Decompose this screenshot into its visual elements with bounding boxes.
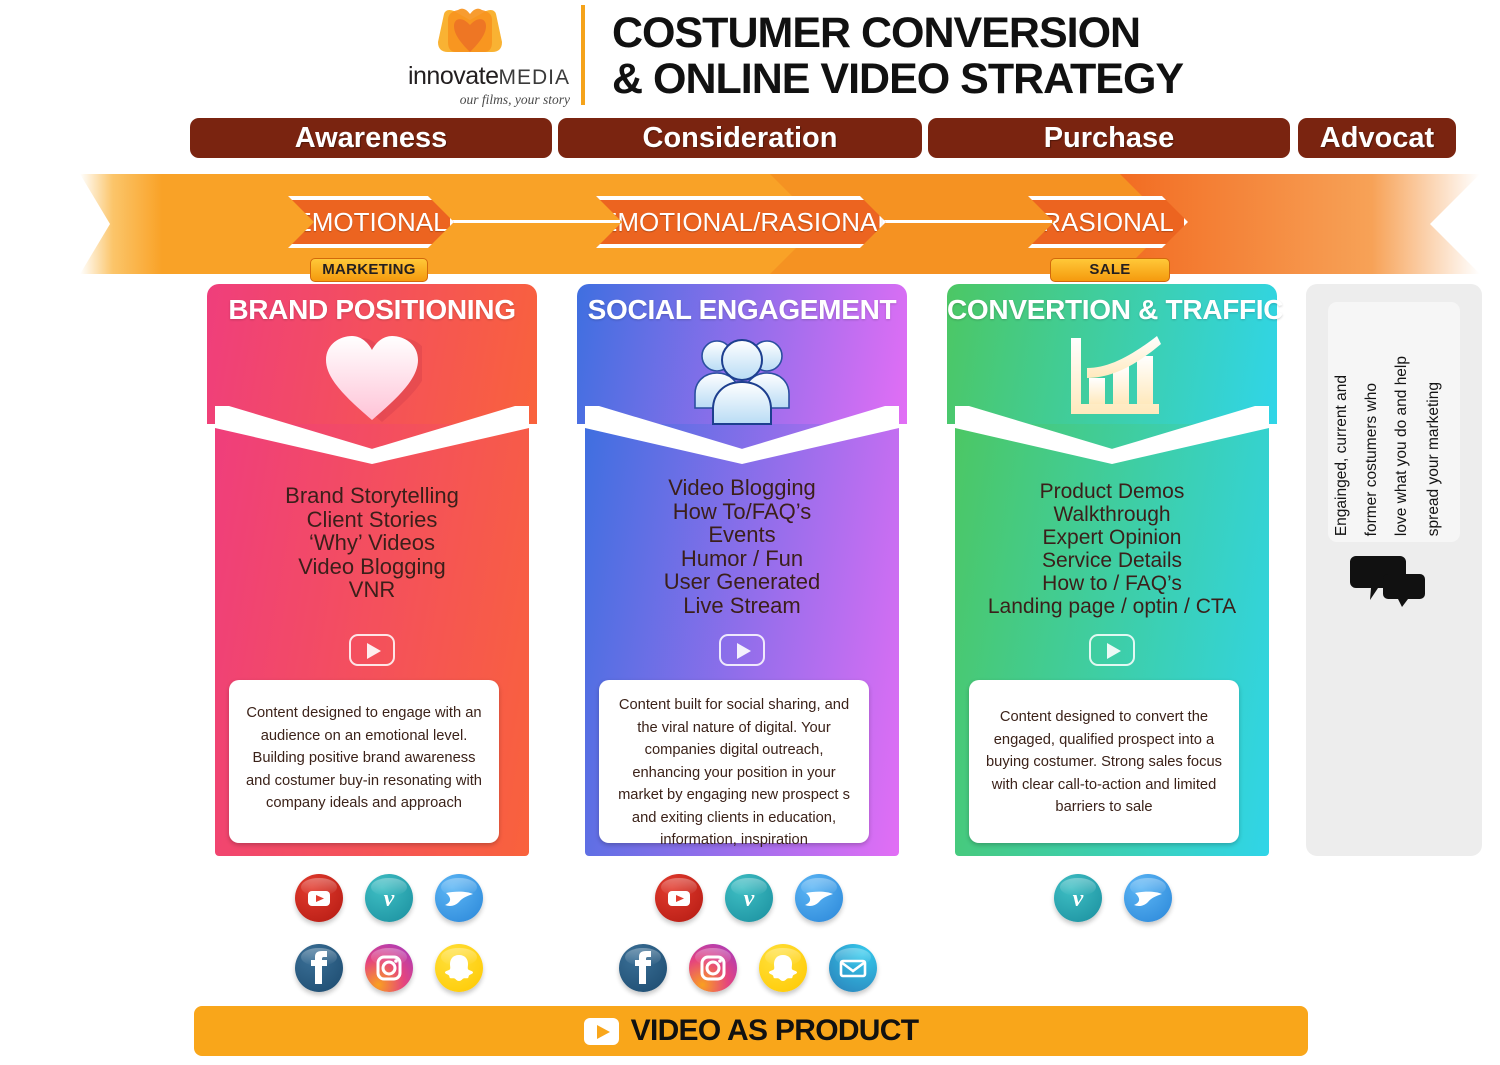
svg-text:v: v [384,886,395,912]
journey-chevron-rasional-label: RASIONAL [1032,200,1184,244]
heart-icon [207,328,537,424]
list-item: Product Demos [947,480,1277,503]
logo-word-innovate: innovate [408,62,499,90]
play-icon[interactable] [349,634,395,666]
footer-banner[interactable]: VIDEO AS PRODUCT [194,1006,1308,1056]
tag-marketing[interactable]: MARKETING [310,258,428,282]
social-icon-vimeo[interactable]: v [725,874,773,922]
play-icon[interactable] [1089,634,1135,666]
social-icon-wistia[interactable] [435,874,483,922]
advocacy-line-3: love what you do and help [1394,356,1410,536]
list-item: ‘Why’ Videos [207,531,537,555]
advocacy-line-4: spread your marketing [1426,382,1442,536]
list-item: Brand Storytelling [207,484,537,508]
header: innovateMEDIA our films, your story COST… [0,0,1500,112]
list-item: How To/FAQ’s [577,500,907,524]
card-title-convertion-traffic: CONVERTION & TRAFFIC [947,294,1277,326]
page-title-line-1: COSTUMER CONVERSION [612,10,1312,56]
advocacy-line-2: former costumers who [1364,383,1380,536]
list-item: Client Stories [207,508,537,532]
social-icon-wistia[interactable] [1124,874,1172,922]
journey-connector-2 [862,220,1052,223]
list-item: Expert Opinion [947,526,1277,549]
column-card-brand-positioning: BRAND POSITIONING Brand Storytelling Cli… [207,284,537,856]
social-icon-vimeo[interactable]: v [1054,874,1102,922]
social-icon-instagram[interactable] [365,944,413,992]
page-title: COSTUMER CONVERSION & ONLINE VIDEO STRAT… [612,10,1312,102]
list-item: Walkthrough [947,503,1277,526]
list-item: Video Blogging [207,555,537,579]
footer-label: VIDEO AS PRODUCT [631,1014,919,1048]
social-icon-facebook[interactable] [619,944,667,992]
journey-chevron-emotional-rasional[interactable]: EMOTIONAL/RASIONAL [596,196,886,248]
journey-chevron-emotional-label: EMOTIONAL [292,200,450,244]
list-item: Events [577,523,907,547]
social-icon-snapchat[interactable] [759,944,807,992]
list-item: Video Blogging [577,476,907,500]
list-item: User Generated [577,570,907,594]
advocacy-text-card: Engainged, current and former costumers … [1328,302,1460,542]
list-item: Service Details [947,549,1277,572]
play-icon[interactable] [719,634,765,666]
card-description-convertion-traffic: Content designed to convert the engaged,… [969,680,1239,843]
card-title-social-engagement: SOCIAL ENGAGEMENT [577,294,907,326]
social-icon-youtube[interactable] [295,874,343,922]
journey-chevron-emotional-rasional-label: EMOTIONAL/RASIONAL [600,200,882,244]
card-title-brand-positioning: BRAND POSITIONING [207,294,537,326]
header-divider [581,5,585,105]
list-item: Humor / Fun [577,547,907,571]
social-icon-instagram[interactable] [689,944,737,992]
card-description-social-engagement: Content built for social sharing, and th… [599,680,869,843]
social-icon-snapchat[interactable] [435,944,483,992]
social-icon-wistia[interactable] [795,874,843,922]
advocacy-vertical-text: Engainged, current and former costumers … [1328,302,1460,542]
social-icon-youtube[interactable] [655,874,703,922]
advocacy-panel: Engainged, current and former costumers … [1306,284,1482,856]
bar-chart-growth-icon [947,328,1277,424]
logo-wordmark: innovateMEDIA [370,62,570,91]
logo-tagline: our films, your story [370,92,570,108]
stage-bar-awareness[interactable]: Awareness [190,118,552,158]
list-item: How to / FAQ’s [947,572,1277,595]
column-card-convertion-traffic: CONVERTION & TRAFFIC Product Demos Walkt… [947,284,1277,856]
social-icon-vimeo[interactable]: v [365,874,413,922]
column-card-social-engagement: SOCIAL ENGAGEMENT Video Blogging How To/… [577,284,907,856]
list-item: Live Stream [577,594,907,618]
card-item-list-convertion-traffic: Product Demos Walkthrough Expert Opinion… [947,480,1277,618]
stage-bar-purchase[interactable]: Purchase [928,118,1290,158]
card-item-list-social-engagement: Video Blogging How To/FAQ’s Events Humor… [577,476,907,617]
journey-connector-1 [430,220,620,223]
list-item: VNR [207,578,537,602]
speech-bubbles-icon [1348,552,1428,607]
tag-sale[interactable]: SALE [1050,258,1170,282]
page-title-line-2: & ONLINE VIDEO STRATEGY [612,56,1312,102]
play-icon [584,1018,619,1045]
logo: innovateMEDIA our films, your story [370,4,570,109]
logo-word-media: MEDIA [498,66,570,89]
people-group-icon [577,328,907,424]
svg-text:v: v [744,886,755,912]
stage-bar-consideration[interactable]: Consideration [558,118,922,158]
social-icon-facebook[interactable] [295,944,343,992]
card-item-list-brand-positioning: Brand Storytelling Client Stories ‘Why’ … [207,484,537,602]
list-item: Landing page / optin / CTA [947,595,1277,618]
innovate-logo-mark [430,6,510,58]
svg-text:v: v [1073,886,1084,912]
advocacy-line-1: Engainged, current and [1334,375,1350,536]
stage-bar-advocat[interactable]: Advocat [1298,118,1456,158]
social-icon-email[interactable] [829,944,877,992]
card-description-brand-positioning: Content designed to engage with an audie… [229,680,499,843]
